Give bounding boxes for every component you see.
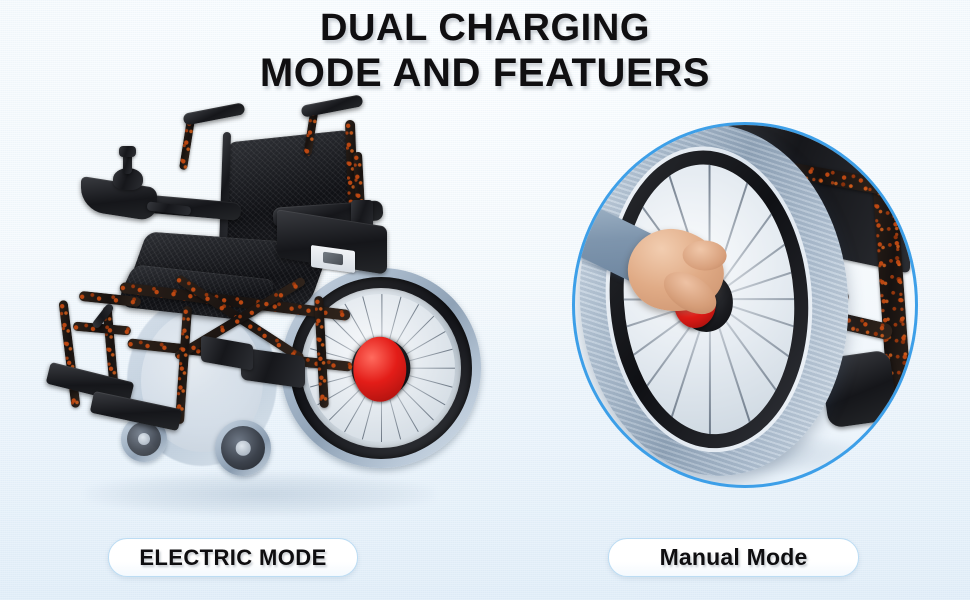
ground-shadow — [85, 472, 435, 516]
legrest-tube-outer — [58, 300, 80, 408]
joystick-knob[interactable] — [119, 146, 136, 157]
inset-circle-border — [572, 122, 918, 488]
page-title: DUAL CHARGING MODE AND FEATUERS — [0, 9, 970, 93]
manual-mode-label-text: Manual Mode — [660, 544, 808, 571]
push-handle-right-grip — [300, 94, 363, 118]
rear-drive-wheel — [281, 268, 481, 468]
quick-release-hub — [353, 337, 406, 402]
electric-wheelchair-image — [55, 100, 475, 525]
push-handle-left-post — [179, 118, 195, 171]
title-line-1: DUAL CHARGING — [0, 9, 970, 47]
front-caster-wheel — [215, 420, 271, 476]
electric-mode-label-text: ELECTRIC MODE — [139, 545, 326, 571]
manual-mode-label[interactable]: Manual Mode — [608, 538, 859, 577]
push-handle-left-grip — [182, 102, 245, 126]
manual-mode-inset — [572, 122, 918, 488]
caster-hub — [236, 441, 251, 456]
caster-hub — [138, 433, 150, 445]
electric-mode-label[interactable]: ELECTRIC MODE — [108, 538, 358, 577]
title-line-2: MODE AND FEATUERS — [0, 53, 970, 93]
promo-banner: DUAL CHARGING MODE AND FEATUERS — [0, 0, 970, 600]
